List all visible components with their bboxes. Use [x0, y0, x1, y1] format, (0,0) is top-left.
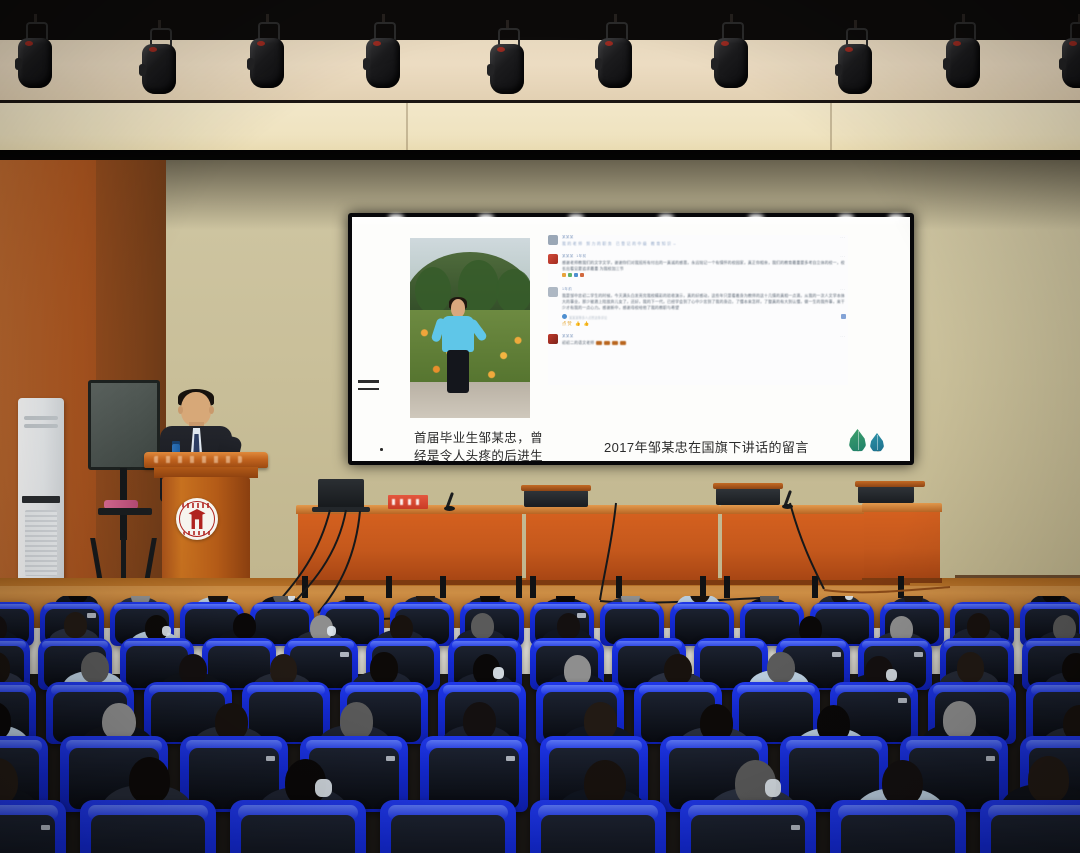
- audience-seat: [230, 800, 366, 853]
- audience-head: [943, 701, 976, 739]
- face-mask: [315, 779, 331, 797]
- audience-head: [270, 654, 298, 685]
- slide-photo-graduate: [410, 238, 530, 418]
- audience-head: [129, 757, 170, 804]
- audience-head: [471, 613, 494, 639]
- slide-leaf-decoration: [849, 425, 893, 455]
- wechat-post-3: 某某某 初初二的语文老师 ···: [548, 334, 848, 347]
- slide-wechat-screenshot: 某某某 我的老师 努力的职务 已登记的中级 教育知识→ ··· 某某某 1年前 …: [548, 235, 848, 385]
- auditorium-photo: 某某某 我的老师 努力的职务 已登记的中级 教育知识→ ··· 某某某 1年前 …: [0, 0, 1080, 853]
- audience-head: [957, 652, 985, 683]
- presenter-head: [181, 392, 211, 426]
- audience-head: [340, 702, 373, 740]
- audience-seat: [80, 800, 216, 853]
- audience-head: [584, 702, 617, 740]
- spotlight-4: [366, 36, 400, 90]
- spotlight-8: [838, 42, 872, 96]
- wechat-header-row: 某某某 我的老师 努力的职务 已登记的中级 教育知识→ ···: [548, 235, 848, 247]
- spotlight-9: [946, 36, 980, 90]
- face-mask: [765, 779, 781, 797]
- audience-seat: [0, 800, 66, 853]
- audience-head: [967, 613, 990, 639]
- audience-head: [557, 613, 580, 639]
- audience-head: [767, 652, 795, 683]
- wechat-post-2: 1年前 我是邹中忠初二学生的时候，今天满头白发亮完我校精彩的验收演示，真的好感动…: [548, 287, 848, 327]
- audience-seat: [980, 800, 1080, 853]
- audience-seating: [0, 596, 1080, 853]
- audience-head: [664, 654, 692, 685]
- slide-photo-person: [441, 299, 475, 393]
- spotlight-2: [142, 42, 176, 96]
- screen-glare: [352, 217, 910, 227]
- audience-head: [81, 652, 109, 683]
- audience-seat: [530, 800, 666, 853]
- spotlight-10: [1062, 36, 1080, 90]
- audience-head: [463, 702, 496, 740]
- display-screen-bezel: 某某某 我的老师 努力的职务 已登记的中级 教育知识→ ··· 某某某 1年前 …: [348, 213, 914, 465]
- presentation-slide[interactable]: 某某某 我的老师 努力的职务 已登记的中级 教育知识→ ··· 某某某 1年前 …: [352, 217, 910, 461]
- audience-seat: [830, 800, 966, 853]
- spotlight-5: [490, 42, 524, 96]
- teal-leaf-icon: [870, 433, 884, 452]
- wechat-post-1: 某某某 1年前 感谢老师教我们的文字文学，谢谢你们对我班所有付出的一真诚的感恩，…: [548, 254, 848, 278]
- spotlight-7: [714, 36, 748, 90]
- green-leaf-icon: [849, 429, 866, 452]
- spotlight-6: [598, 36, 632, 90]
- face-mask: [845, 596, 853, 600]
- audience-seat: [680, 800, 816, 853]
- audience-head: [1062, 653, 1080, 684]
- audience-head: [370, 652, 398, 683]
- audience-head: [179, 654, 207, 685]
- audience-head: [390, 615, 413, 641]
- face-mask: [288, 596, 296, 601]
- slide-dot-mark: [380, 448, 383, 451]
- audience-head: [215, 703, 248, 741]
- spotlight-3: [250, 36, 284, 90]
- slide-dash-marks: [358, 380, 379, 395]
- spotlight-1: [18, 36, 52, 90]
- face-mask: [493, 667, 504, 679]
- audience-head: [1028, 756, 1069, 803]
- audience-seat: [380, 800, 516, 853]
- face-mask: [162, 626, 171, 636]
- audience-head: [233, 613, 256, 639]
- audience-head: [102, 703, 135, 741]
- face-mask: [327, 626, 336, 636]
- audience-head: [64, 612, 87, 638]
- face-mask: [886, 669, 897, 681]
